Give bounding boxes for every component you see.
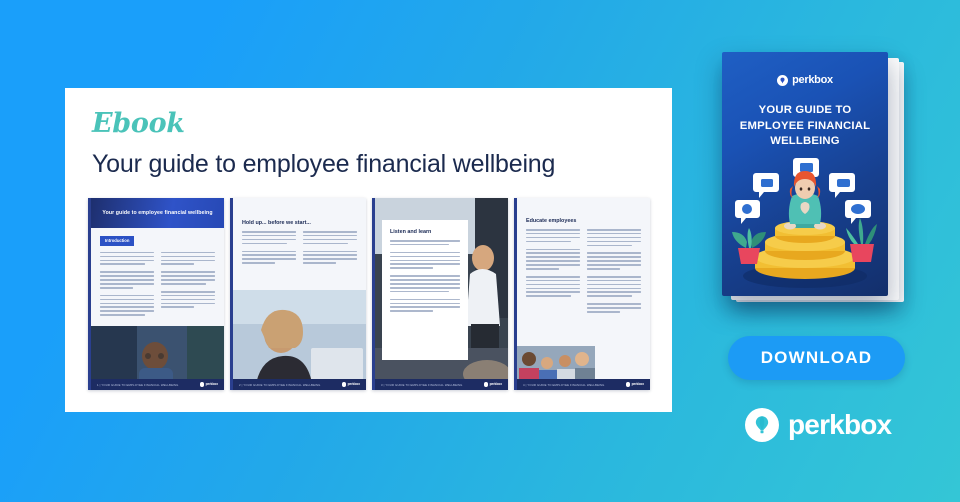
text-line [526, 264, 580, 266]
text-columns [242, 231, 357, 266]
page-footer: 1 | YOUR GUIDE TO EMPLOYEE FINANCIAL WEL… [91, 379, 224, 390]
footer-text: 4 | YOUR GUIDE TO EMPLOYEE FINANCIAL WEL… [523, 383, 605, 387]
text-line [161, 306, 194, 308]
text-line [303, 231, 357, 233]
page-thumbnail-strip: Your guide to employee financial wellbei… [88, 198, 650, 390]
text-line [526, 280, 580, 282]
text-line [390, 275, 460, 277]
text-line [587, 288, 641, 290]
card-header: Ebook Your guide to employee financial w… [65, 88, 672, 179]
text-line [242, 231, 296, 233]
ebook-cover: perkbox YOUR GUIDE TO EMPLOYEE FINANCIAL… [722, 52, 888, 296]
cover-title: YOUR GUIDE TO EMPLOYEE FINANCIAL WELLBEI… [722, 103, 888, 150]
footer-brand: perkbox [490, 382, 502, 386]
text-line [587, 268, 620, 270]
text-line [303, 235, 357, 237]
text-line [100, 275, 154, 277]
text-line [587, 256, 641, 258]
page-thumbnail[interactable]: Hold up... before we start... [230, 198, 366, 390]
content-type-label: Ebook [92, 110, 672, 137]
text-column [303, 231, 357, 266]
text-line [390, 263, 460, 265]
page-footer: 4 | YOUR GUIDE TO EMPLOYEE FINANCIAL WEL… [517, 379, 650, 390]
text-line [390, 256, 460, 258]
text-line [100, 271, 154, 273]
text-line [587, 264, 641, 266]
text-line [161, 256, 215, 258]
balloon-icon [484, 382, 488, 386]
page-footer: 2 | YOUR GUIDE TO EMPLOYEE FINANCIAL WEL… [233, 379, 366, 390]
text-line [526, 252, 580, 254]
balloon-icon [342, 382, 346, 386]
ebook-cover-mockup[interactable]: perkbox YOUR GUIDE TO EMPLOYEE FINANCIAL… [722, 52, 908, 306]
text-columns [100, 252, 215, 318]
text-line [587, 284, 641, 286]
text-line [161, 271, 215, 273]
text-column [100, 252, 154, 318]
text-line [587, 241, 641, 243]
text-line [587, 245, 632, 247]
text-line [526, 241, 571, 243]
footer-brand: perkbox [348, 382, 360, 386]
text-line [526, 237, 580, 239]
text-line [526, 249, 580, 251]
promo-banner: Ebook Your guide to employee financial w… [0, 0, 960, 502]
footer-logo: perkbox [626, 382, 644, 386]
text-line [242, 254, 296, 256]
download-button[interactable]: DOWNLOAD [728, 336, 905, 380]
team-meeting-photo [517, 346, 595, 379]
cover-illustration [722, 156, 888, 296]
page-thumbnail[interactable]: Educate employees [514, 198, 650, 390]
text-line [587, 307, 641, 309]
cover-logo: perkbox [722, 74, 888, 86]
hot-air-balloon-icon [745, 408, 779, 442]
text-line [100, 310, 154, 312]
page-text-panel: Listen and learn [382, 220, 468, 360]
text-line [161, 260, 215, 262]
footer-text: 2 | YOUR GUIDE TO EMPLOYEE FINANCIAL WEL… [239, 383, 321, 387]
text-line [587, 233, 641, 235]
page-heading: Hold up... before we start... [242, 220, 357, 226]
text-line [100, 260, 154, 262]
page-footer: 3 | YOUR GUIDE TO EMPLOYEE FINANCIAL WEL… [375, 379, 508, 390]
text-line [526, 233, 580, 235]
cover-title-line-1: YOUR GUIDE TO [732, 103, 878, 119]
text-line [390, 279, 460, 281]
text-line [100, 287, 133, 289]
text-line [390, 244, 449, 246]
woman-meditating-on-coins [722, 156, 888, 296]
text-line [390, 306, 460, 308]
section-badge: Introduction [100, 236, 134, 246]
text-line [390, 299, 460, 301]
text-line [100, 299, 154, 301]
footer-logo: perkbox [342, 382, 360, 386]
text-line [526, 284, 580, 286]
footer-logo: perkbox [484, 382, 502, 386]
page-title: Your guide to employee financial wellbei… [92, 150, 672, 179]
text-line [390, 287, 460, 289]
text-line [161, 252, 215, 254]
text-line [390, 260, 460, 262]
text-line [303, 251, 357, 253]
text-line [100, 303, 154, 305]
text-line [161, 279, 215, 281]
text-line [100, 283, 154, 285]
page-body: Educate employees [517, 198, 650, 315]
text-line [303, 239, 357, 241]
text-line [161, 263, 194, 265]
text-line [303, 254, 357, 256]
text-column [526, 229, 580, 315]
text-line [303, 262, 336, 264]
text-line [587, 260, 641, 262]
text-line [526, 276, 580, 278]
text-line [242, 243, 287, 245]
text-line [161, 303, 215, 305]
text-columns [526, 229, 641, 315]
text-line [161, 299, 215, 301]
cover-brand-name: perkbox [792, 74, 833, 86]
text-line [390, 283, 460, 285]
text-line [100, 295, 154, 297]
text-line [161, 275, 215, 277]
text-column [587, 229, 641, 315]
brand-name: perkbox [788, 409, 891, 441]
text-line [587, 237, 641, 239]
text-line [161, 291, 215, 293]
text-line [587, 252, 641, 254]
text-line [587, 303, 641, 305]
page-photo [517, 346, 595, 379]
text-line [526, 291, 580, 293]
balloon-icon [626, 382, 630, 386]
brand-logo: perkbox [745, 408, 891, 442]
text-line [161, 283, 206, 285]
text-line [390, 303, 460, 305]
page-thumbnail[interactable]: Listen and learn [372, 198, 508, 390]
text-line [390, 267, 433, 269]
content-card: Ebook Your guide to employee financial w… [65, 88, 672, 412]
text-line [587, 295, 632, 297]
text-line [587, 276, 641, 278]
page-body: Hold up... before we start... [233, 198, 366, 266]
text-line [526, 260, 580, 262]
page-thumbnail[interactable]: Your guide to employee financial wellbei… [88, 198, 224, 390]
text-column [242, 231, 296, 266]
text-line [526, 268, 559, 270]
footer-brand: perkbox [206, 382, 218, 386]
page-photo [233, 290, 366, 390]
text-line [242, 235, 296, 237]
text-line [242, 251, 296, 253]
text-line [390, 240, 460, 242]
page-heading: Educate employees [526, 218, 641, 224]
balloon-icon [200, 382, 204, 386]
cover-title-line-2: EMPLOYEE FINANCIAL [732, 119, 878, 135]
text-line [390, 252, 460, 254]
text-line [587, 280, 641, 282]
text-line [587, 291, 641, 293]
page-heading: Listen and learn [390, 229, 460, 235]
text-line [100, 306, 154, 308]
footer-text: 3 | YOUR GUIDE TO EMPLOYEE FINANCIAL WEL… [381, 383, 463, 387]
text-line [161, 295, 215, 297]
page-body: Introduction [91, 228, 224, 318]
text-line [587, 311, 620, 313]
hot-air-balloon-icon [777, 75, 788, 86]
cover-title-line-3: WELLBEING [732, 134, 878, 150]
text-line [526, 229, 580, 231]
text-line [526, 288, 580, 290]
page-header-band: Your guide to employee financial wellbei… [91, 198, 224, 228]
text-line [242, 258, 296, 260]
text-line [526, 295, 571, 297]
text-line [242, 262, 275, 264]
text-line [587, 229, 641, 231]
text-line [526, 256, 580, 258]
text-line [390, 310, 433, 312]
text-line [100, 256, 154, 258]
text-line [303, 258, 357, 260]
woman-with-laptop-photo [233, 290, 366, 390]
text-line [100, 263, 145, 265]
text-column [161, 252, 215, 318]
text-line [390, 291, 449, 293]
text-line [100, 314, 145, 316]
text-line [100, 252, 154, 254]
text-line [100, 279, 154, 281]
text-line [303, 243, 348, 245]
footer-text: 1 | YOUR GUIDE TO EMPLOYEE FINANCIAL WEL… [97, 383, 179, 387]
footer-brand: perkbox [632, 382, 644, 386]
text-line [242, 239, 296, 241]
footer-logo: perkbox [200, 382, 218, 386]
